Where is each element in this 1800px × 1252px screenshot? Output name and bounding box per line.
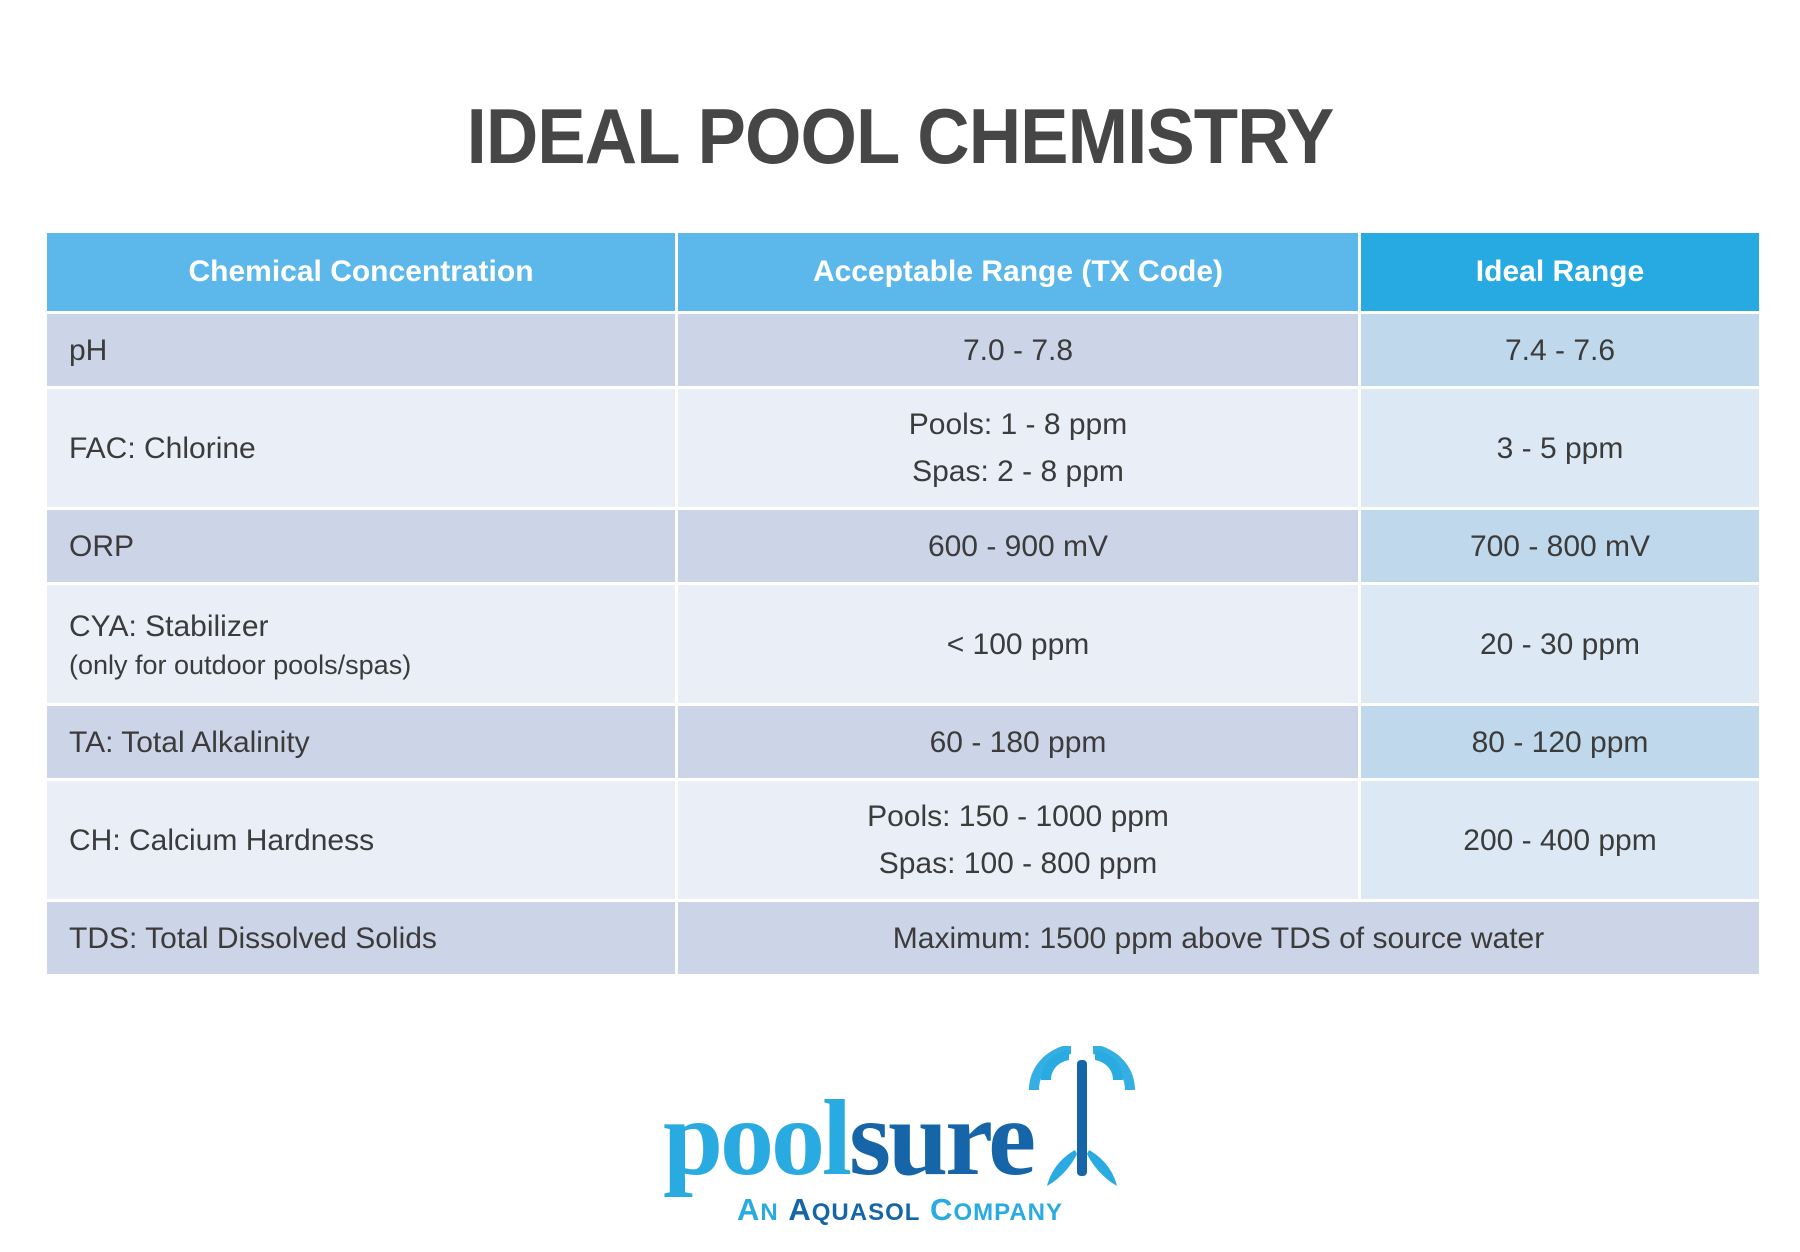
logo-word-sure: sure xyxy=(849,1079,1033,1198)
chemistry-table-wrapper: Chemical Concentration Acceptable Range … xyxy=(44,230,1756,977)
acceptable-line: Pools: 150 - 1000 ppm xyxy=(700,796,1336,837)
logo-wordmark-row: poolsure xyxy=(663,1046,1137,1190)
water-splash-icon xyxy=(1027,1046,1137,1196)
acceptable-line: 600 - 900 mV xyxy=(700,526,1336,567)
poster-page: IDEAL POOL CHEMISTRY Chemical Concentrat… xyxy=(0,52,1800,1252)
cell-chemical-name: pH xyxy=(47,314,675,386)
table-row: TA: Total Alkalinity 60 - 180 ppm 80 - 1… xyxy=(47,706,1759,778)
logo-wordmark: poolsure xyxy=(663,1088,1033,1191)
chemical-note: (only for outdoor pools/spas) xyxy=(69,648,653,683)
table-row: ORP 600 - 900 mV 700 - 800 mV xyxy=(47,510,1759,582)
table-header: Chemical Concentration Acceptable Range … xyxy=(47,233,1759,311)
cell-ideal-range: 7.4 - 7.6 xyxy=(1361,314,1759,386)
table-row: pH 7.0 - 7.8 7.4 - 7.6 xyxy=(47,314,1759,386)
table-row: TDS: Total Dissolved Solids Maximum: 150… xyxy=(47,902,1759,974)
cell-chemical-name: FAC: Chlorine xyxy=(47,389,675,507)
cell-acceptable-range: Pools: 150 - 1000 ppm Spas: 100 - 800 pp… xyxy=(678,781,1358,899)
tagline-an-n: N xyxy=(760,1199,778,1226)
cell-ideal-range: 3 - 5 ppm xyxy=(1361,389,1759,507)
cell-chemical-name: CH: Calcium Hardness xyxy=(47,781,675,899)
cell-chemical-name: TDS: Total Dissolved Solids xyxy=(47,902,675,974)
acceptable-line: < 100 ppm xyxy=(700,624,1336,665)
acceptable-line: 7.0 - 7.8 xyxy=(700,330,1336,371)
chemical-label: pH xyxy=(69,330,653,371)
cell-chemical-name: TA: Total Alkalinity xyxy=(47,706,675,778)
chemical-label: TA: Total Alkalinity xyxy=(69,722,653,763)
page-title: IDEAL POOL CHEMISTRY xyxy=(63,52,1737,178)
table-row: CH: Calcium Hardness Pools: 150 - 1000 p… xyxy=(47,781,1759,899)
column-header-ideal-range: Ideal Range xyxy=(1361,233,1759,311)
logo-word-pool: pool xyxy=(663,1079,849,1198)
acceptable-line: Spas: 2 - 8 ppm xyxy=(700,451,1336,492)
table-body: pH 7.0 - 7.8 7.4 - 7.6 FAC: Chlorine Poo… xyxy=(47,314,1759,974)
column-header-chemical-concentration: Chemical Concentration xyxy=(47,233,675,311)
cell-chemical-name: ORP xyxy=(47,510,675,582)
tagline-company-rest: OMPANY xyxy=(953,1199,1063,1226)
chemical-label: CYA: Stabilizer xyxy=(69,606,653,647)
acceptable-line: Spas: 100 - 800 ppm xyxy=(700,843,1336,884)
chemical-label: ORP xyxy=(69,526,653,567)
table-row: CYA: Stabilizer (only for outdoor pools/… xyxy=(47,585,1759,703)
table-row: FAC: Chlorine Pools: 1 - 8 ppm Spas: 2 -… xyxy=(47,389,1759,507)
acceptable-line: Pools: 1 - 8 ppm xyxy=(700,404,1336,445)
header-row: Chemical Concentration Acceptable Range … xyxy=(47,233,1759,311)
cell-acceptable-range: 7.0 - 7.8 xyxy=(678,314,1358,386)
chemical-label: TDS: Total Dissolved Solids xyxy=(69,918,653,959)
cell-acceptable-range: 60 - 180 ppm xyxy=(678,706,1358,778)
cell-acceptable-range-merged: Maximum: 1500 ppm above TDS of source wa… xyxy=(678,902,1759,974)
acceptable-line: 60 - 180 ppm xyxy=(700,722,1336,763)
cell-ideal-range: 80 - 120 ppm xyxy=(1361,706,1759,778)
cell-ideal-range: 700 - 800 mV xyxy=(1361,510,1759,582)
chemical-label: CH: Calcium Hardness xyxy=(69,820,653,861)
cell-ideal-range: 200 - 400 ppm xyxy=(1361,781,1759,899)
cell-chemical-name: CYA: Stabilizer (only for outdoor pools/… xyxy=(47,585,675,703)
pool-chemistry-table: Chemical Concentration Acceptable Range … xyxy=(44,230,1762,977)
cell-acceptable-range: Pools: 1 - 8 ppm Spas: 2 - 8 ppm xyxy=(678,389,1358,507)
tagline-aquasol-rest: QUASOL xyxy=(812,1199,921,1226)
chemical-label: FAC: Chlorine xyxy=(69,428,653,469)
cell-acceptable-range: < 100 ppm xyxy=(678,585,1358,703)
column-header-acceptable-range: Acceptable Range (TX Code) xyxy=(678,233,1358,311)
cell-ideal-range: 20 - 30 ppm xyxy=(1361,585,1759,703)
brand-logo: poolsure AN A xyxy=(0,1046,1800,1228)
cell-acceptable-range: 600 - 900 mV xyxy=(678,510,1358,582)
